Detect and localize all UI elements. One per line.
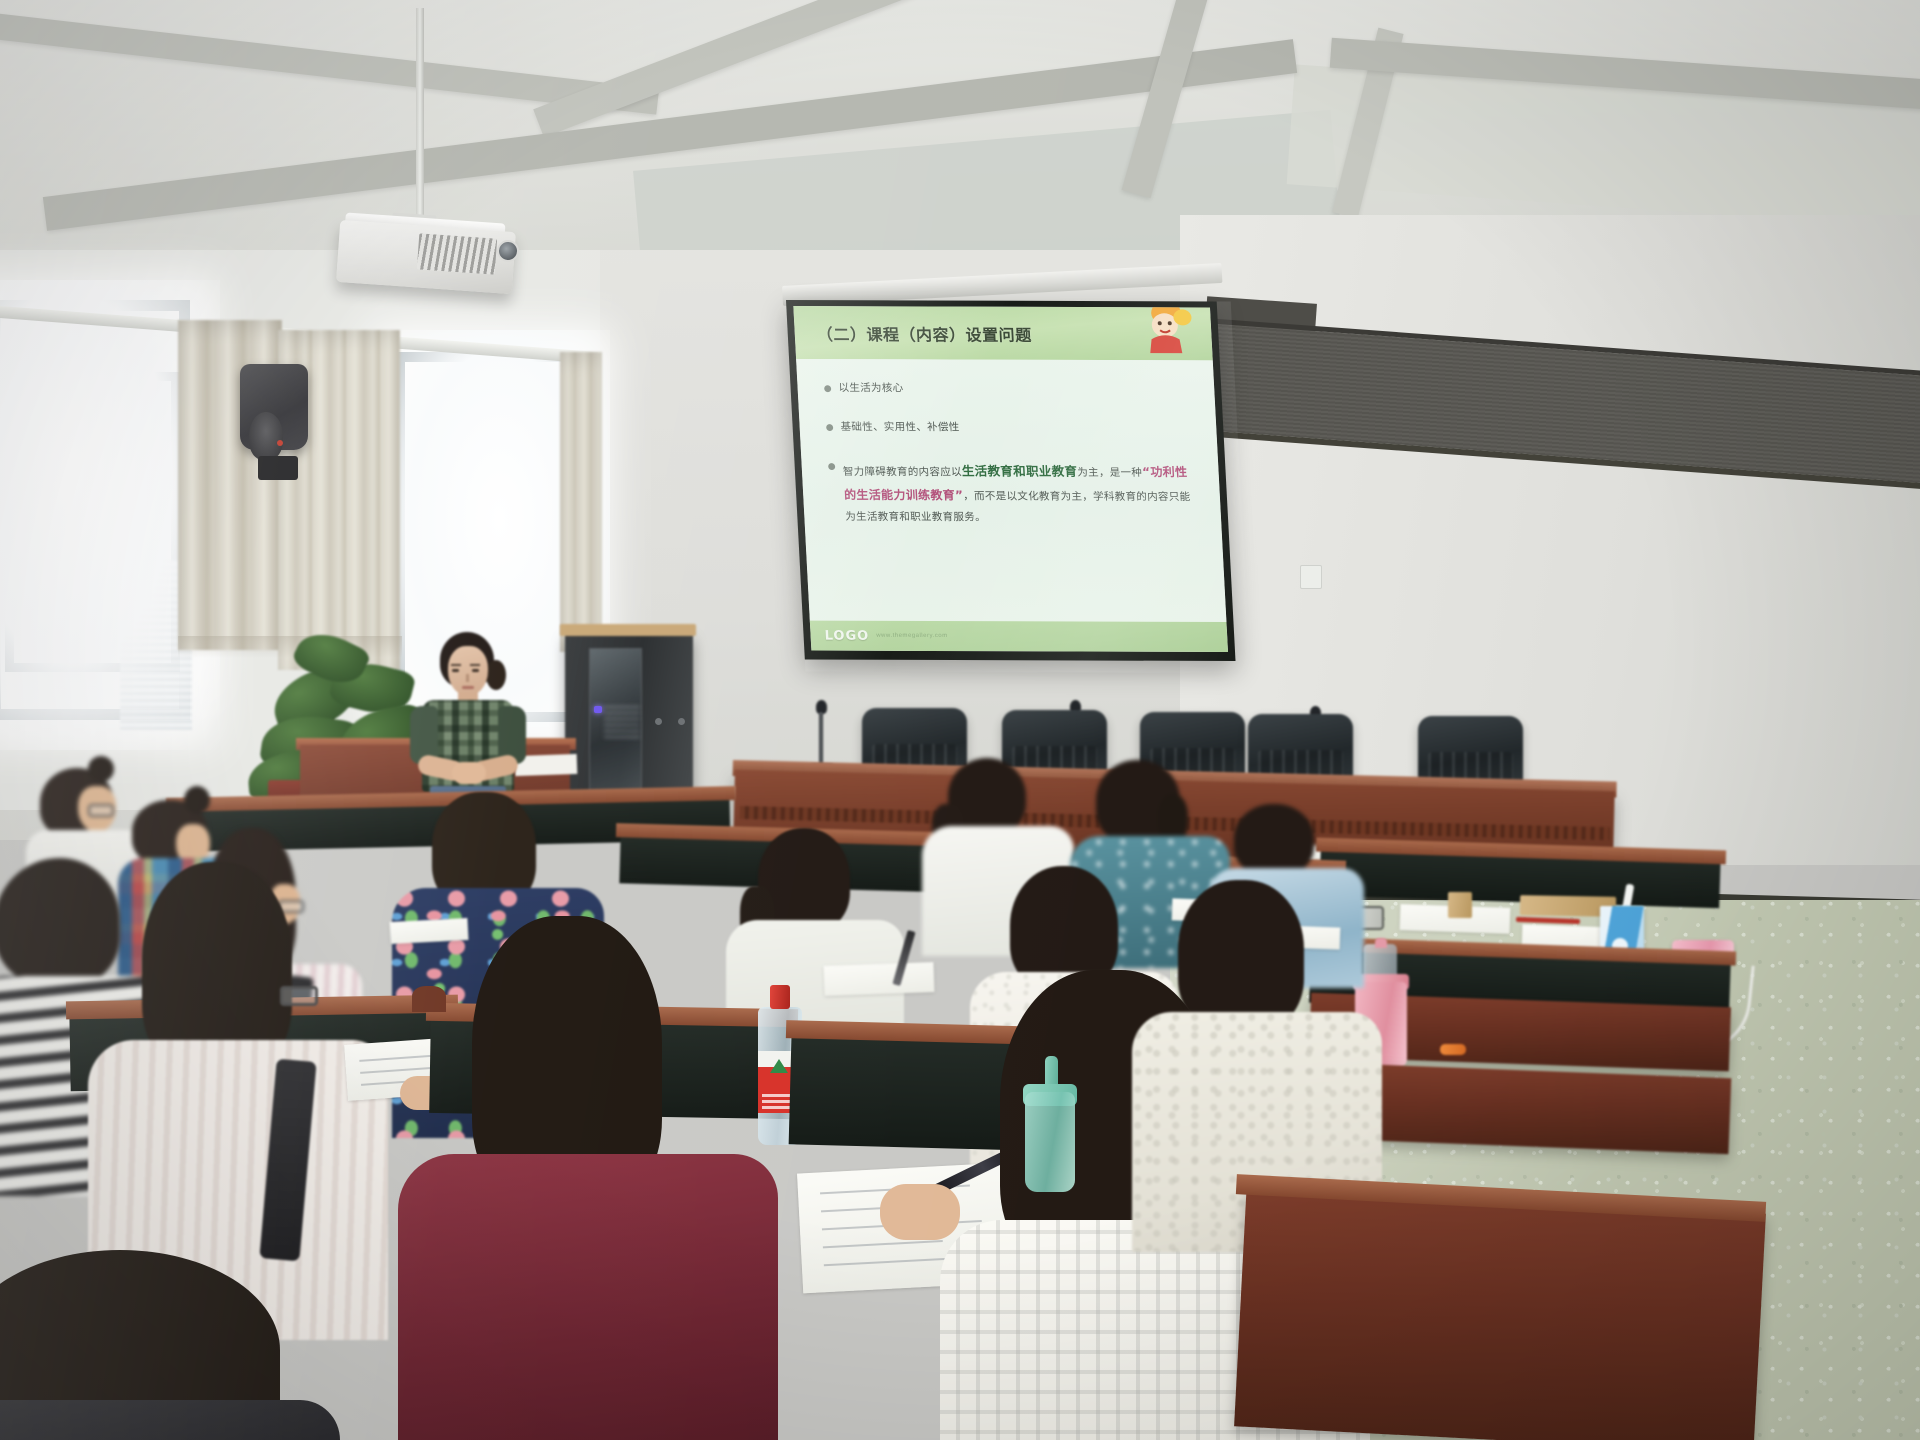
presenter-folded-hands <box>452 762 486 784</box>
projection-screen: （二）课程（内容）设置问题 ● 以生活为核心 ● <box>786 300 1236 661</box>
student-dark-top <box>0 1400 340 1440</box>
bullet-dot-icon: ● <box>827 459 838 527</box>
cabinet-top-surface <box>560 624 696 636</box>
slide-surface: （二）课程（内容）设置问题 ● 以生活为核心 ● <box>793 306 1228 652</box>
slide-title-bar: （二）课程（内容）设置问题 <box>793 306 1212 360</box>
presenter-nose <box>466 674 469 682</box>
speaker-led <box>277 440 283 446</box>
cabinet-knob[interactable] <box>678 718 685 725</box>
conference-microphone <box>819 712 823 768</box>
student-glasses <box>280 986 318 1006</box>
slide-bullet-2: ● 基础性、实用性、补偿性 <box>825 420 1192 438</box>
student-writing-hand <box>880 1184 960 1240</box>
projector-mount-rod <box>416 8 424 226</box>
slide-body: ● 以生活为核心 ● 基础性、实用性、补偿性 ● 智力障碍教育的内容应以生活教育… <box>796 359 1226 624</box>
slide-paragraph-text: 智力障碍教育的内容应以生活教育和职业教育为主，是一种“功利性的生活能力训练教育”… <box>842 459 1197 528</box>
bullet-dot-icon: ● <box>825 420 834 437</box>
orange-eraser <box>1440 1044 1466 1055</box>
para-emphasis-green-1: 生活教育和职业教育 <box>961 464 1077 479</box>
mint-tumbler[interactable] <box>1025 1062 1075 1192</box>
presenter-hair-bun <box>486 660 506 690</box>
presenter-eye <box>452 669 459 672</box>
bench-front-panel <box>1234 1187 1766 1440</box>
presenter-eyebrow <box>451 664 461 666</box>
slide-footer: LOGO www.themegallery.com <box>810 621 1228 652</box>
slide-logo-text: LOGO <box>824 628 869 643</box>
bottle-brand-triangle-icon <box>770 1059 788 1073</box>
speaker-bracket <box>258 456 298 480</box>
student-hair <box>0 858 120 986</box>
presenter-mouth <box>462 686 474 689</box>
tumbler-body <box>1025 1092 1075 1192</box>
classroom-photo-scene: （二）课程（内容）设置问题 ● 以生活为核心 ● <box>0 0 1920 1440</box>
projector-vent-grille <box>417 233 497 274</box>
student-hair <box>1178 880 1304 1030</box>
para-mid-1: 为主，是一种 <box>1077 467 1143 479</box>
student-maroon-shirt <box>398 1154 778 1440</box>
desk-paper <box>824 962 935 996</box>
student-hair <box>1234 804 1314 876</box>
para-lead: 智力障碍教育的内容应以 <box>843 466 963 478</box>
slide-bullet-1: ● 以生活为核心 <box>823 381 1190 399</box>
cabinet-interior-panel <box>604 702 640 738</box>
presenter-eye <box>472 669 479 672</box>
slide-logo-subtext: www.themegallery.com <box>876 633 948 639</box>
bottle-cap[interactable] <box>770 985 790 1009</box>
para-mid-2: ，而不是以文化教育为主 <box>963 490 1083 502</box>
speaker-cone <box>249 412 283 460</box>
bullet-dot-icon: ● <box>823 381 832 398</box>
slide-paragraph: ● 智力障碍教育的内容应以生活教育和职业教育为主，是一种“功利性的生活能力训练教… <box>827 459 1197 528</box>
cabinet-knob[interactable] <box>655 718 662 725</box>
slide-bullet-1-text: 以生活为核心 <box>838 381 904 398</box>
presenter-eyebrow <box>470 664 480 666</box>
bench-end-scroll <box>412 986 446 1012</box>
thermos-knob <box>1375 938 1387 948</box>
student-glasses <box>88 804 114 817</box>
student-hair-bun <box>88 756 114 782</box>
desk-paper <box>389 918 468 944</box>
slide-title: （二）课程（内容）设置问题 <box>794 320 1032 345</box>
curtain-panel[interactable] <box>560 352 602 652</box>
cabinet-power-led <box>594 706 602 713</box>
slide-mascot-icon <box>1135 306 1194 353</box>
student-hair-tie <box>184 786 210 814</box>
tan-box <box>1448 892 1472 918</box>
slide-bullet-2-text: 基础性、实用性、补偿性 <box>840 420 960 437</box>
wall-switch[interactable] <box>1300 565 1322 589</box>
